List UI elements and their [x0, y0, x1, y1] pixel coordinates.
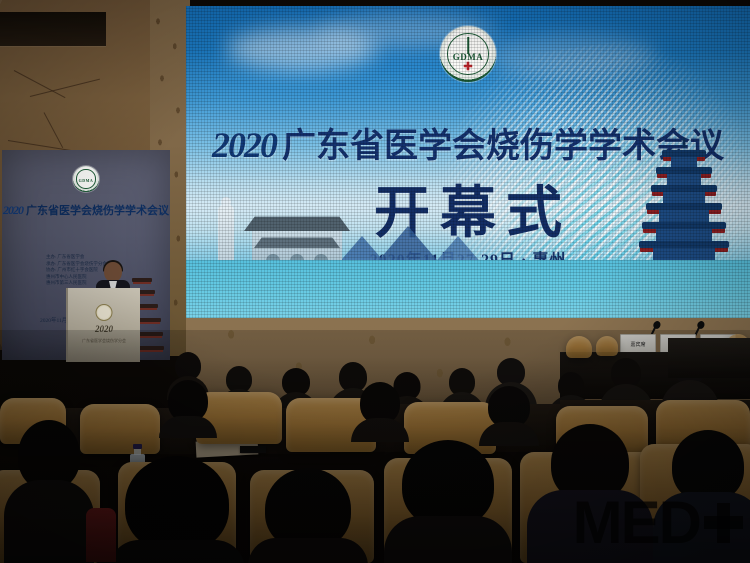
- backdrop-year: 2020: [3, 203, 23, 217]
- backdrop-emblem-icon: GDMA: [73, 166, 99, 192]
- watermark-text: MED: [573, 488, 700, 557]
- audience-member: [352, 382, 408, 438]
- stage-chair: [566, 336, 592, 358]
- emblem-cross-icon: ✚: [463, 62, 472, 73]
- conference-photo-scene: GDMA ✚ 2020广东省医学会烧伤学学术会议 开幕式 2020年11月27-…: [0, 0, 750, 563]
- audience-member-front: [6, 420, 92, 563]
- audience-member-front: [386, 440, 510, 563]
- gdma-emblem-icon: GDMA ✚: [440, 26, 496, 82]
- backdrop-title-line: 2020广东省医学会烧伤学学术会议: [2, 202, 170, 218]
- speaker-podium: 2020 广东省医学会烧伤学分会: [66, 288, 140, 362]
- backdrop-emblem-acronym: GDMA: [73, 178, 99, 183]
- audience-member-front: [112, 456, 242, 563]
- back-monitor: [668, 338, 750, 378]
- podium-emblem-icon: [96, 304, 113, 321]
- main-led-screen: GDMA ✚ 2020广东省医学会烧伤学学术会议 开幕式 2020年11月27-…: [186, 6, 750, 318]
- name-card: 嘉宾席: [620, 334, 656, 354]
- pen: [240, 446, 266, 453]
- red-garment: [86, 508, 116, 562]
- audience-member-front: [250, 468, 366, 563]
- screen-year: 2020: [212, 125, 276, 165]
- backdrop-date: 2020年11月: [40, 316, 67, 324]
- lake-icon: [186, 260, 750, 318]
- stage-chair: [596, 336, 618, 356]
- backdrop-title-text: 广东省医学会烧伤学学术会议: [26, 205, 169, 217]
- audience-member: [160, 380, 216, 434]
- audience-chair: [80, 404, 160, 454]
- medical-cross-icon: [702, 501, 744, 545]
- podium-logo-line: 广东省医学会烧伤学分会: [68, 338, 140, 344]
- watermark: MED: [573, 488, 744, 557]
- podium-logo-year: 2020: [68, 324, 140, 334]
- speaker-head: [104, 262, 122, 282]
